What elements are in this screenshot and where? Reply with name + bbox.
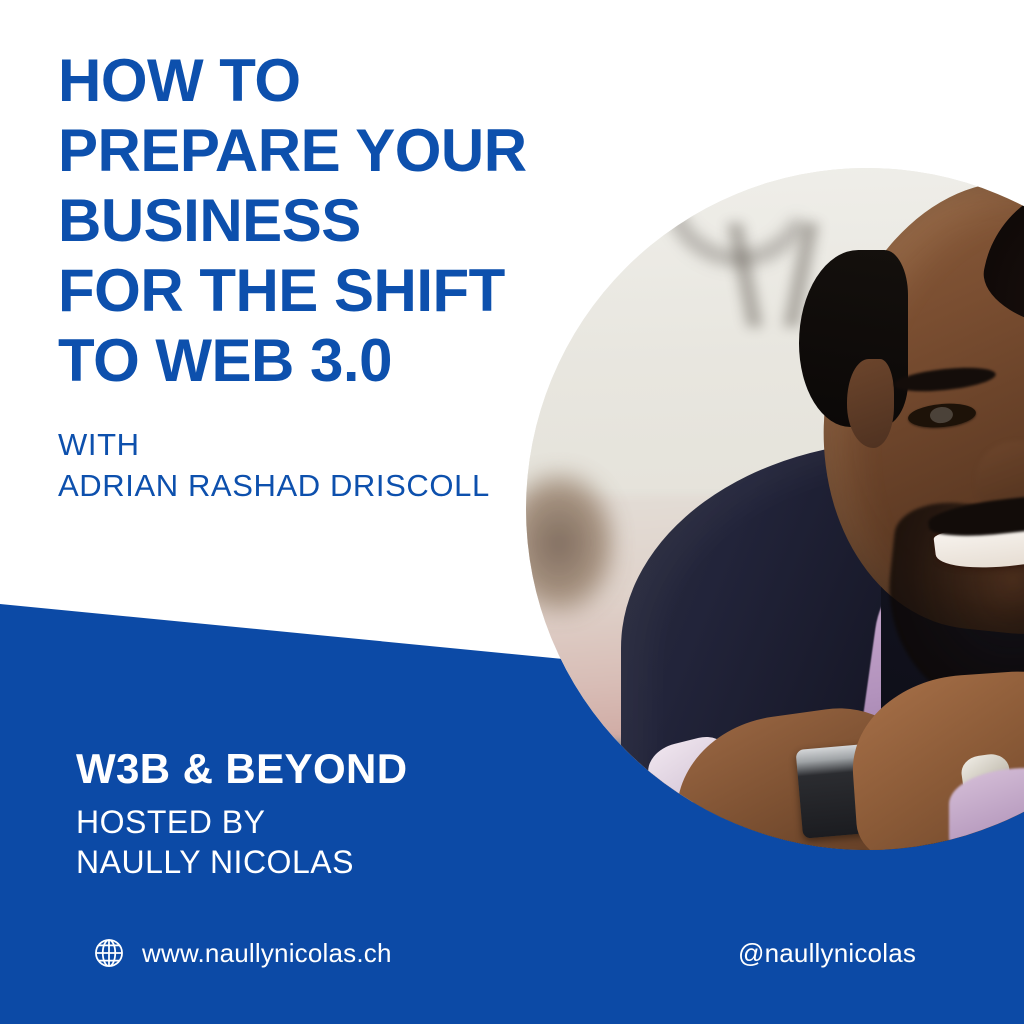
hosted-by-label: HOSTED BY — [76, 802, 354, 842]
website-url: www.naullynicolas.ch — [142, 938, 392, 969]
guest-photo — [526, 168, 1024, 850]
website-link[interactable]: www.naullynicolas.ch — [92, 936, 392, 970]
guest-hair — [976, 168, 1024, 357]
guest-photo-image — [526, 168, 1024, 850]
globe-icon — [92, 936, 126, 970]
page-title: HOW TO PREPARE YOUR BUSINESS FOR THE SHI… — [58, 46, 527, 396]
photo-background-blur-blob — [526, 468, 619, 618]
show-title: W3B & BEYOND — [76, 746, 408, 792]
host-credit: HOSTED BY NAULLY NICOLAS — [76, 802, 354, 882]
podcast-promo-poster: HOW TO PREPARE YOUR BUSINESS FOR THE SHI… — [0, 0, 1024, 1024]
guest-ear — [847, 359, 895, 448]
guest-credit: WITH ADRIAN RASHAD DRISCOLL — [58, 424, 490, 506]
headline-line-2: PREPARE YOUR — [58, 116, 527, 186]
social-handle[interactable]: @naullynicolas — [738, 938, 916, 969]
headline-line-5: TO WEB 3.0 — [58, 326, 527, 396]
host-name: NAULLY NICOLAS — [76, 842, 354, 882]
guest-with-label: WITH — [58, 424, 490, 465]
headline-line-3: BUSINESS — [58, 186, 527, 256]
headline-line-1: HOW TO — [58, 46, 527, 116]
headline-line-4: FOR THE SHIFT — [58, 256, 527, 326]
guest-name: ADRIAN RASHAD DRISCOLL — [58, 465, 490, 506]
